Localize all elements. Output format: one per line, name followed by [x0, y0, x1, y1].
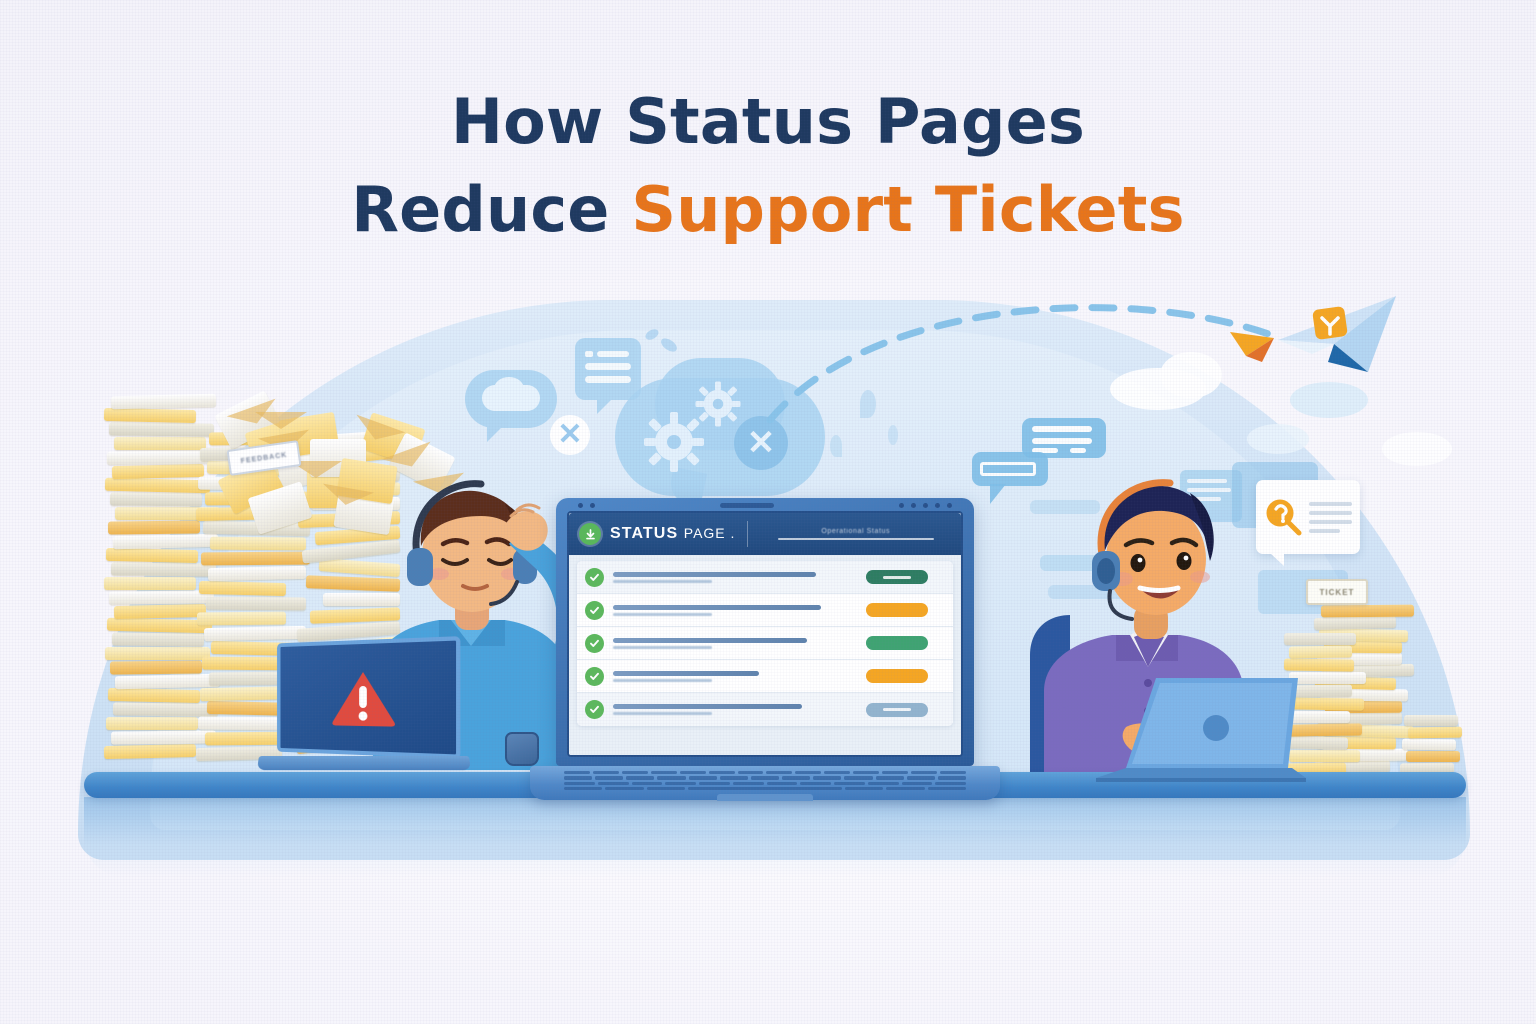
- ticket-envelope: [114, 604, 206, 619]
- laptop-lid: STATUS PAGE . Operational Status: [556, 498, 974, 766]
- keyboard-key[interactable]: [800, 782, 831, 785]
- ticket-envelope: [1314, 616, 1396, 630]
- status-page-body: [569, 555, 961, 755]
- laptop-keyboard[interactable]: [564, 771, 966, 790]
- ticket-envelope: [105, 478, 210, 494]
- x-mark-icon: ✕: [550, 415, 590, 455]
- ticket-envelope: [108, 520, 200, 534]
- bubble-line: [585, 376, 631, 383]
- keyboard-key[interactable]: [665, 782, 696, 785]
- main-laptop: STATUS PAGE . Operational Status: [556, 498, 974, 800]
- envelope-flap: [255, 412, 307, 429]
- check-circle-icon: [585, 667, 604, 686]
- ticket-envelope: [1402, 739, 1456, 751]
- ticket-envelope: [1408, 727, 1462, 739]
- keyboard-key[interactable]: [813, 776, 841, 779]
- service-name-placeholder: [613, 704, 849, 715]
- keyboard-key[interactable]: [844, 776, 872, 779]
- keyboard-key[interactable]: [845, 787, 883, 790]
- status-row[interactable]: [577, 594, 953, 627]
- keyboard-key[interactable]: [593, 771, 619, 774]
- spark-shape: [830, 435, 842, 457]
- ticket-envelope: [1321, 605, 1414, 618]
- keyboard-key[interactable]: [868, 782, 899, 785]
- keyboard-key[interactable]: [853, 771, 879, 774]
- keyboard-key[interactable]: [598, 782, 629, 785]
- left-laptop: [268, 640, 470, 771]
- ticket-envelope: [201, 552, 310, 566]
- desk-reflection: [84, 797, 1466, 877]
- ticket-envelope: [197, 612, 286, 626]
- ticket-envelope: [108, 688, 200, 703]
- keyboard-key[interactable]: [751, 776, 779, 779]
- headline-highlight: Support Tickets: [631, 173, 1184, 246]
- status-pill: [866, 703, 928, 717]
- keyboard-key[interactable]: [938, 776, 966, 779]
- warning-triangle-icon: [329, 665, 398, 731]
- status-badge: [849, 636, 945, 650]
- faq-card-lines: [1309, 502, 1352, 533]
- ticket-envelope: [111, 394, 216, 410]
- keyboard-key[interactable]: [632, 782, 663, 785]
- keyboard-key[interactable]: [795, 771, 821, 774]
- laptop-base: [530, 766, 1000, 800]
- ticket-envelope: [1284, 658, 1354, 671]
- ticket-envelope: [112, 464, 204, 479]
- service-name-placeholder: [613, 638, 849, 649]
- illustration-canvas: ✕ ✕: [0, 0, 1536, 1024]
- status-pill: [866, 603, 928, 617]
- ticket-envelope: [107, 450, 212, 464]
- ticket-envelope: [1289, 645, 1352, 658]
- computer-mouse: [505, 732, 539, 766]
- chat-bubble-tail: [990, 484, 1006, 504]
- check-circle-icon: [585, 634, 604, 653]
- download-circle-icon: [579, 523, 601, 545]
- service-name-placeholder: [613, 605, 849, 616]
- keyboard-key[interactable]: [689, 776, 717, 779]
- ticket-envelope: [104, 577, 196, 590]
- headline-line-1: How Status Pages: [0, 78, 1536, 166]
- ticket-envelope: [206, 597, 306, 611]
- ticket-envelope: [110, 492, 202, 506]
- keyboard-key[interactable]: [564, 787, 602, 790]
- keyboard-key[interactable]: [907, 776, 935, 779]
- cloud-glyph: [494, 377, 524, 401]
- cloud-shape: [1382, 432, 1452, 466]
- keyboard-key[interactable]: [626, 776, 654, 779]
- keyboard-key[interactable]: [564, 771, 590, 774]
- keyboard-key[interactable]: [657, 776, 685, 779]
- keyboard-key[interactable]: [564, 776, 592, 779]
- keyboard-key[interactable]: [935, 782, 966, 785]
- keyboard-key[interactable]: [766, 771, 792, 774]
- laptop-trackpad[interactable]: [717, 794, 813, 801]
- keyboard-key[interactable]: [605, 787, 643, 790]
- ticket-envelope: [112, 632, 204, 646]
- keyboard-key[interactable]: [709, 771, 735, 774]
- keyboard-key[interactable]: [688, 787, 842, 790]
- keyboard-key[interactable]: [911, 771, 937, 774]
- page-title: How Status Pages Reduce Support Tickets: [0, 78, 1536, 254]
- keyboard-key[interactable]: [834, 782, 865, 785]
- ticket-envelope: [111, 730, 216, 744]
- header-divider: [747, 521, 748, 547]
- service-name-placeholder: [613, 572, 849, 583]
- bubble-line: [597, 351, 629, 357]
- gear-icon: [694, 380, 742, 428]
- right-laptop: [1092, 672, 1312, 787]
- ticket-envelope: [106, 717, 198, 730]
- paper-plane-icon: [1272, 292, 1402, 383]
- status-pill: [866, 669, 928, 683]
- ticket-envelope: [208, 566, 306, 581]
- bubble-line: [585, 363, 631, 370]
- keyboard-key[interactable]: [940, 771, 966, 774]
- check-circle-icon: [585, 601, 604, 620]
- list-speech-bubble: [575, 338, 641, 400]
- status-row[interactable]: [577, 660, 953, 693]
- ticket-envelope: [113, 534, 218, 550]
- left-laptop-base: [257, 756, 471, 770]
- keyboard-key[interactable]: [720, 776, 748, 779]
- status-row[interactable]: [577, 561, 953, 594]
- keyboard-key[interactable]: [767, 782, 798, 785]
- status-page-title-light: PAGE .: [684, 525, 736, 541]
- keyboard-key[interactable]: [738, 771, 764, 774]
- status-row[interactable]: [577, 693, 953, 726]
- headline-line-2-prefix: Reduce: [351, 173, 631, 246]
- status-badge: [849, 570, 945, 584]
- ticket-envelope: [1404, 715, 1458, 726]
- keyboard-key[interactable]: [564, 782, 595, 785]
- check-circle-icon: [585, 568, 604, 587]
- status-page-screen: STATUS PAGE . Operational Status: [567, 511, 963, 757]
- keyboard-key[interactable]: [886, 787, 924, 790]
- status-page-meta-rule: [778, 538, 934, 540]
- ticket-envelope: [105, 647, 210, 660]
- headline-line-2: Reduce Support Tickets: [0, 166, 1536, 254]
- status-table: [577, 561, 953, 726]
- laptop-camera-notch: [720, 503, 774, 508]
- ticket-envelope: [109, 422, 214, 436]
- bubble-line: [585, 351, 593, 357]
- keyboard-key[interactable]: [680, 771, 706, 774]
- keyboard-key[interactable]: [733, 782, 764, 785]
- keyboard-key[interactable]: [782, 776, 810, 779]
- keyboard-key[interactable]: [647, 787, 685, 790]
- status-page-title-strong: STATUS: [610, 525, 678, 542]
- ticket-envelope: [204, 626, 306, 641]
- status-badge: [849, 603, 945, 617]
- status-row[interactable]: [577, 627, 953, 660]
- ticket-envelope: [113, 702, 218, 716]
- keyboard-key[interactable]: [902, 782, 933, 785]
- status-pill: [866, 570, 928, 584]
- status-page-title: STATUS PAGE .: [610, 525, 735, 543]
- keyboard-key[interactable]: [595, 776, 623, 779]
- keyboard-key[interactable]: [824, 771, 850, 774]
- ticket-envelope: [106, 548, 198, 563]
- status-page-header: STATUS PAGE . Operational Status: [569, 513, 961, 555]
- keyboard-key[interactable]: [876, 776, 904, 779]
- status-page-meta-text: Operational Status: [760, 528, 951, 535]
- ticket-envelope: [114, 437, 206, 450]
- keyboard-key[interactable]: [651, 771, 677, 774]
- left-laptop-screen: [277, 636, 460, 759]
- status-badge: [849, 669, 945, 683]
- ticket-envelope: [104, 408, 196, 423]
- ticket-envelope: [104, 744, 196, 759]
- status-page-meta: Operational Status: [760, 528, 951, 540]
- ticket-envelope: [110, 660, 202, 674]
- laptop-bezel-details: [556, 503, 974, 508]
- keyboard-key[interactable]: [699, 782, 730, 785]
- keyboard-key[interactable]: [882, 771, 908, 774]
- ticket-envelope: [210, 537, 306, 551]
- ticket-envelope: [115, 674, 220, 690]
- ticket-envelope: [111, 562, 216, 576]
- check-circle-icon: [585, 700, 604, 719]
- keyboard-key[interactable]: [928, 787, 966, 790]
- service-name-placeholder: [613, 671, 849, 682]
- ticket-label-card: TICKET: [1306, 579, 1368, 605]
- keyboard-key[interactable]: [622, 771, 648, 774]
- ticket-envelope: [1284, 633, 1356, 645]
- ticket-envelope: [1406, 751, 1460, 762]
- status-pill: [866, 636, 928, 650]
- ticket-envelope: [199, 581, 286, 596]
- status-badge: [849, 703, 945, 717]
